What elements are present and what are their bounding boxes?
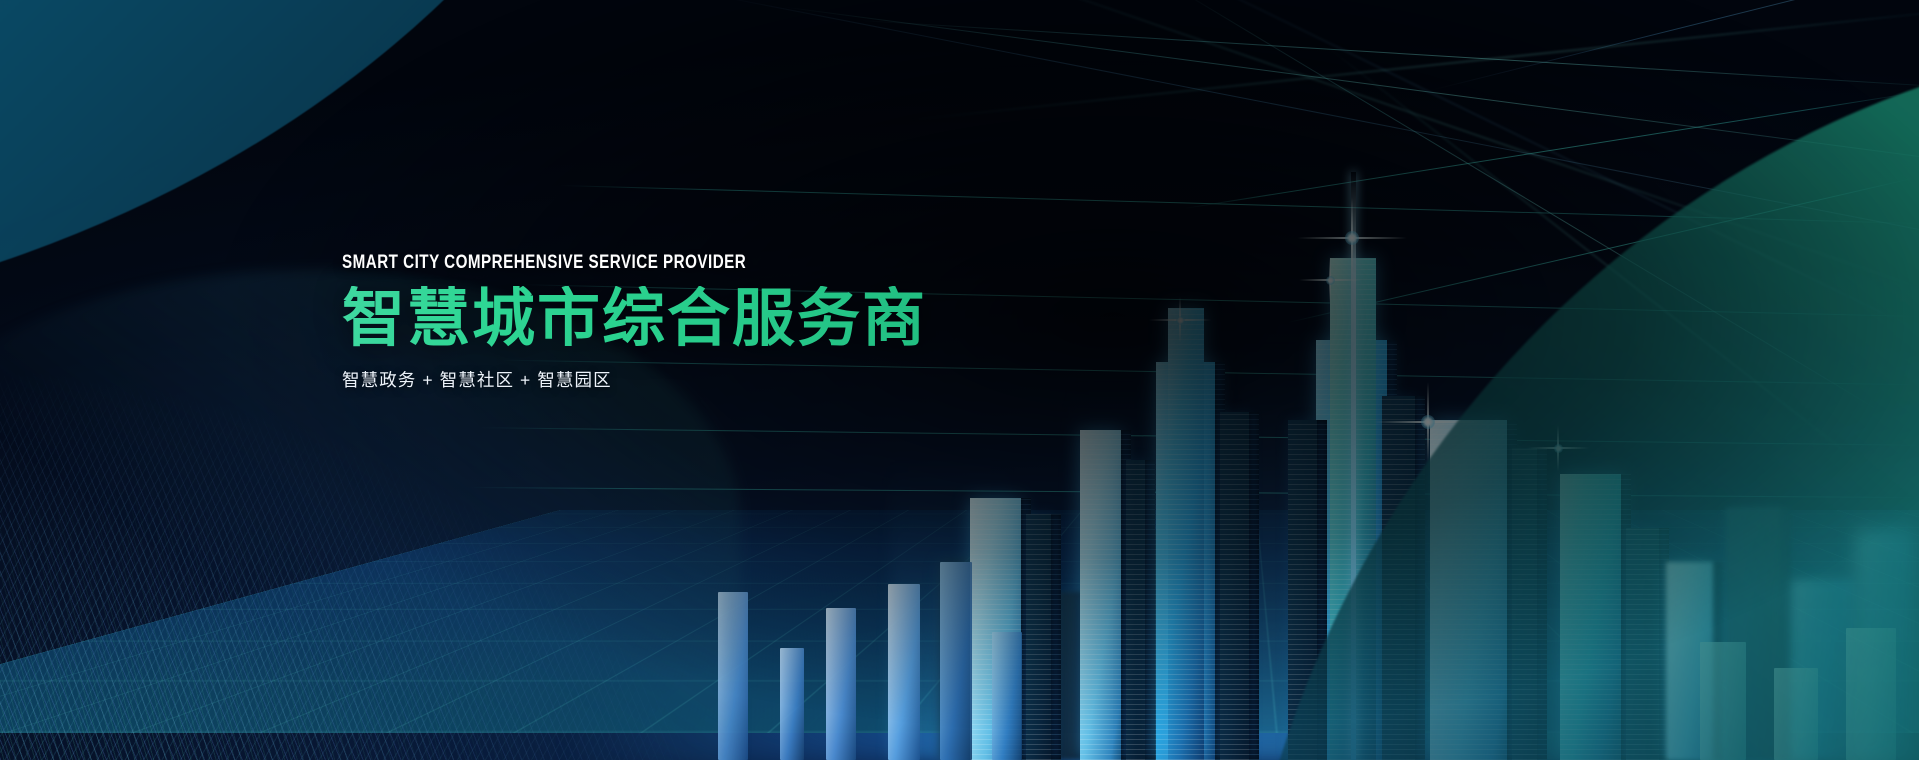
hero-banner: SMART CITY COMPREHENSIVE SERVICE PROVIDE… — [0, 0, 1919, 760]
hero-text-block: SMART CITY COMPREHENSIVE SERVICE PROVIDE… — [342, 252, 1102, 392]
hero-subline: 智慧政务 + 智慧社区 + 智慧园区 — [342, 367, 1102, 392]
hero-headline: 智慧城市综合服务商 — [342, 286, 1102, 353]
hero-eyebrow: SMART CITY COMPREHENSIVE SERVICE PROVIDE… — [342, 252, 950, 274]
